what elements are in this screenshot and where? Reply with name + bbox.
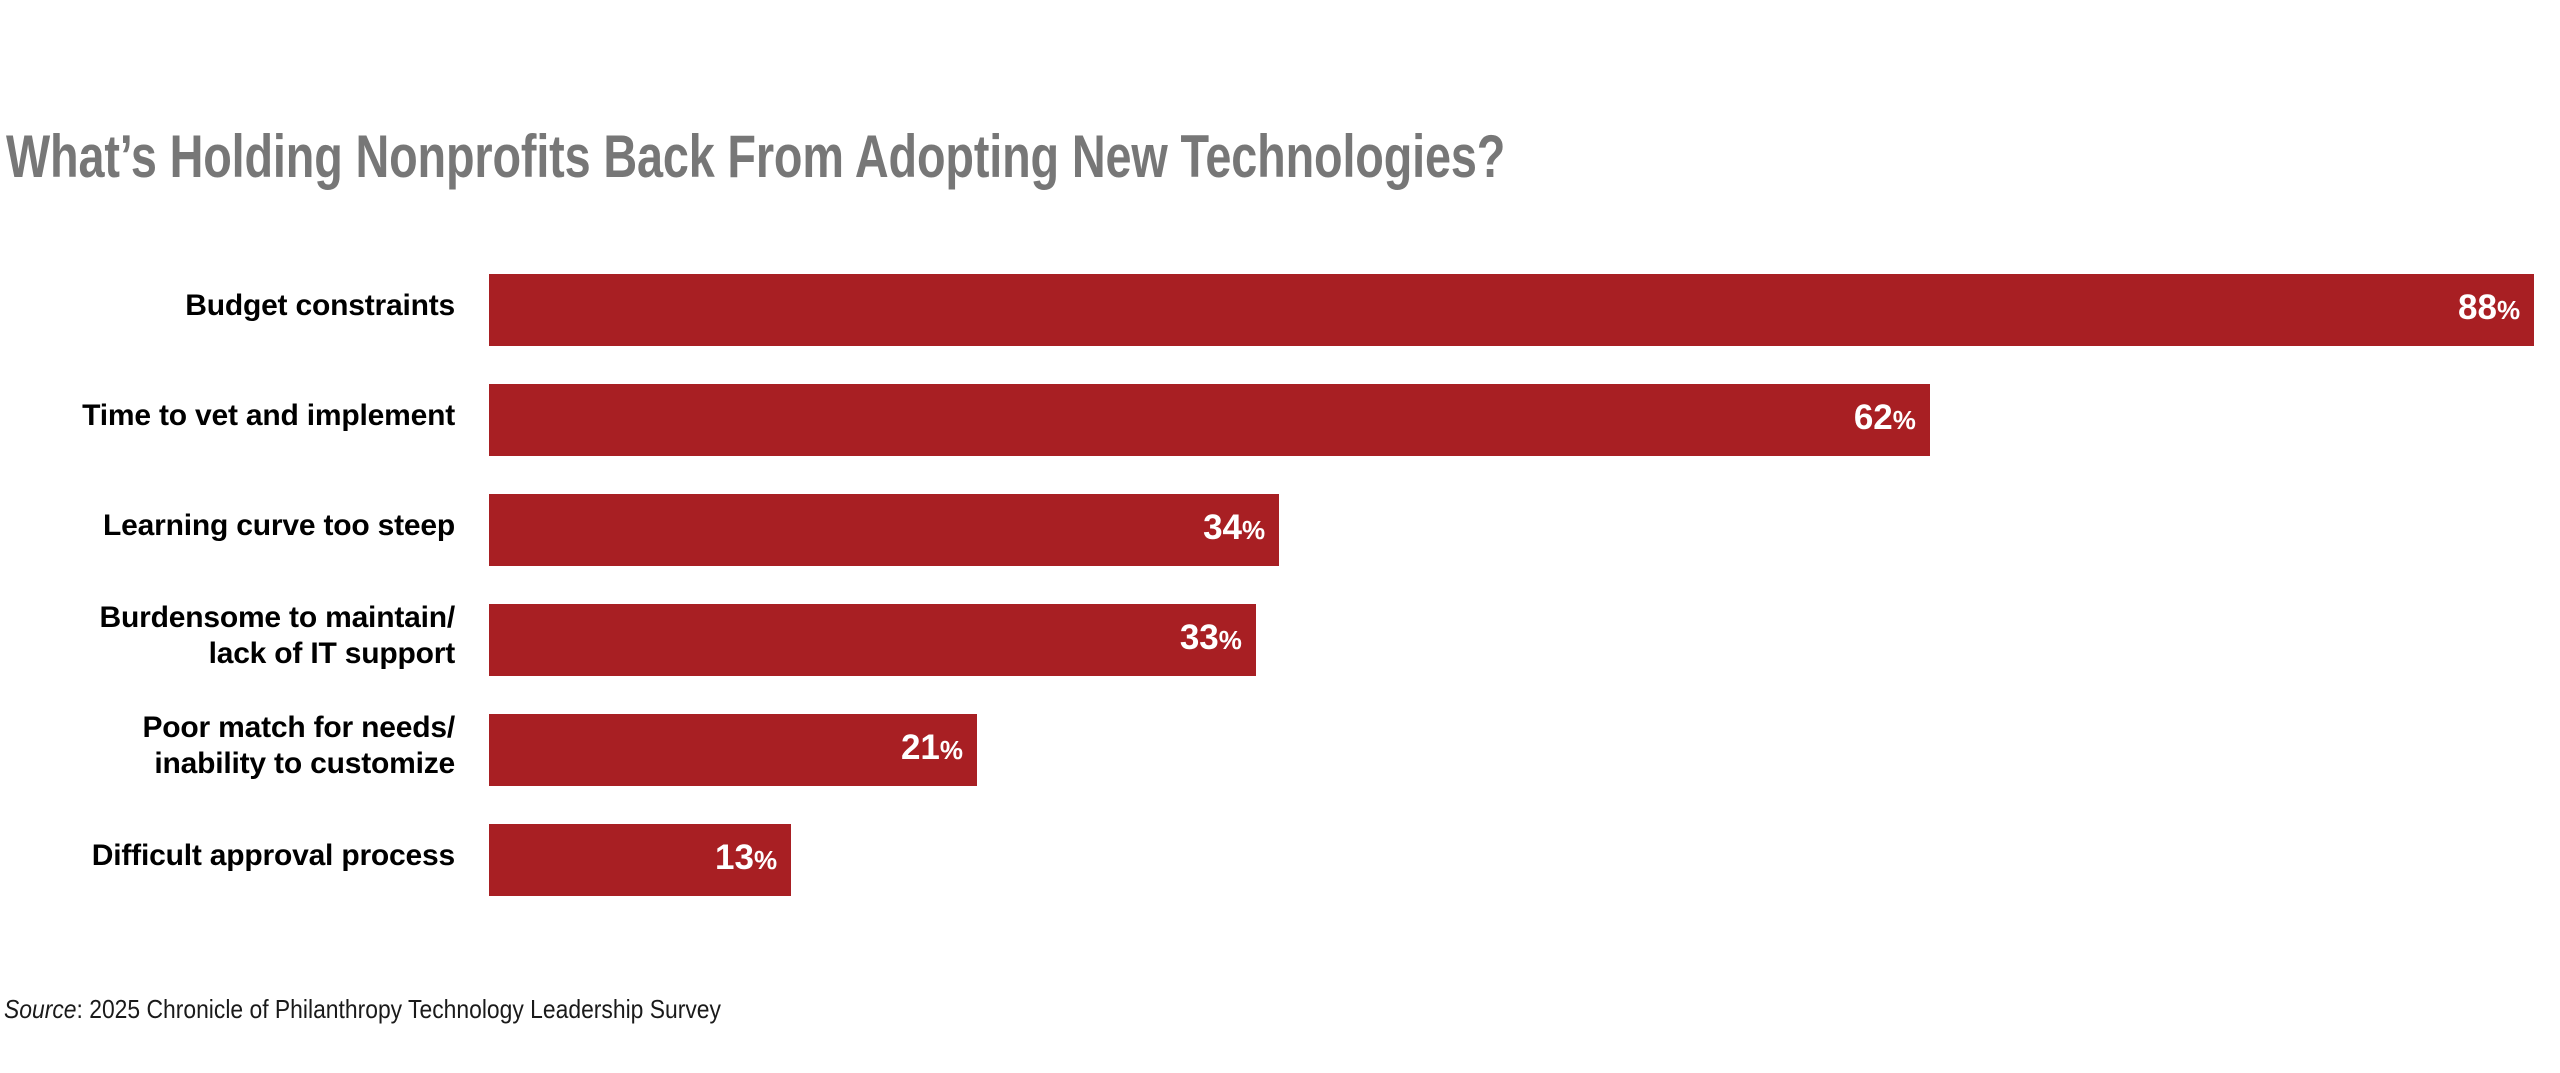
- bar-value-number: 62: [1854, 398, 1893, 437]
- bar-value-number: 21: [901, 728, 940, 767]
- bar-value-label: 34%: [1203, 510, 1265, 548]
- bar-value-label: 62%: [1854, 400, 1916, 438]
- bar-row: Budget constraints88%: [0, 268, 2560, 346]
- bar-track: 62%: [489, 384, 1930, 456]
- source-label: Source: [4, 994, 77, 1024]
- bar-track: 34%: [489, 494, 1279, 566]
- bar[interactable]: [489, 274, 2534, 346]
- bar-row: Difficult approval process13%: [0, 818, 2560, 896]
- bar-category-label: Learning curve too steep: [0, 508, 455, 544]
- bar-track: 13%: [489, 824, 791, 896]
- bar-value-number: 88: [2458, 288, 2497, 327]
- bar-value-percent-sign: %: [754, 845, 777, 875]
- bar-category-label: Budget constraints: [0, 288, 455, 324]
- bar-value-label: 33%: [1180, 620, 1242, 658]
- bar-row: Poor match for needs/ inability to custo…: [0, 708, 2560, 786]
- bar-value-number: 33: [1180, 618, 1219, 657]
- bar-category-label: Difficult approval process: [0, 838, 455, 874]
- bar-value-percent-sign: %: [1219, 625, 1242, 655]
- bar-row: Burdensome to maintain/ lack of IT suppo…: [0, 598, 2560, 676]
- bar[interactable]: [489, 494, 1279, 566]
- bar-category-label: Poor match for needs/ inability to custo…: [0, 710, 455, 782]
- bar-value-number: 34: [1203, 508, 1242, 547]
- bar-track: 33%: [489, 604, 1256, 676]
- bar-track: 21%: [489, 714, 977, 786]
- bar-value-percent-sign: %: [1242, 515, 1265, 545]
- bar-track: 88%: [489, 274, 2534, 346]
- bar-value-percent-sign: %: [1893, 405, 1916, 435]
- bar-value-label: 21%: [901, 730, 963, 768]
- bar[interactable]: [489, 384, 1930, 456]
- bar-chart-figure: What’s Holding Nonprofits Back From Adop…: [0, 0, 2560, 1073]
- chart-plot-area: Budget constraints88%Time to vet and imp…: [0, 268, 2560, 888]
- bar-value-percent-sign: %: [940, 735, 963, 765]
- source-separator: :: [77, 994, 90, 1024]
- source-text: 2025 Chronicle of Philanthropy Technolog…: [89, 994, 721, 1024]
- bar-category-label: Time to vet and implement: [0, 398, 455, 434]
- bar-row: Time to vet and implement62%: [0, 378, 2560, 456]
- bar-value-percent-sign: %: [2497, 295, 2520, 325]
- bar-value-number: 13: [715, 838, 754, 877]
- bar-value-label: 88%: [2458, 290, 2520, 328]
- bar-category-label: Burdensome to maintain/ lack of IT suppo…: [0, 600, 455, 672]
- chart-title: What’s Holding Nonprofits Back From Adop…: [6, 126, 1878, 188]
- bar-row: Learning curve too steep34%: [0, 488, 2560, 566]
- bar[interactable]: [489, 604, 1256, 676]
- bar-value-label: 13%: [715, 840, 777, 878]
- source-note: Source: 2025 Chronicle of Philanthropy T…: [4, 994, 721, 1024]
